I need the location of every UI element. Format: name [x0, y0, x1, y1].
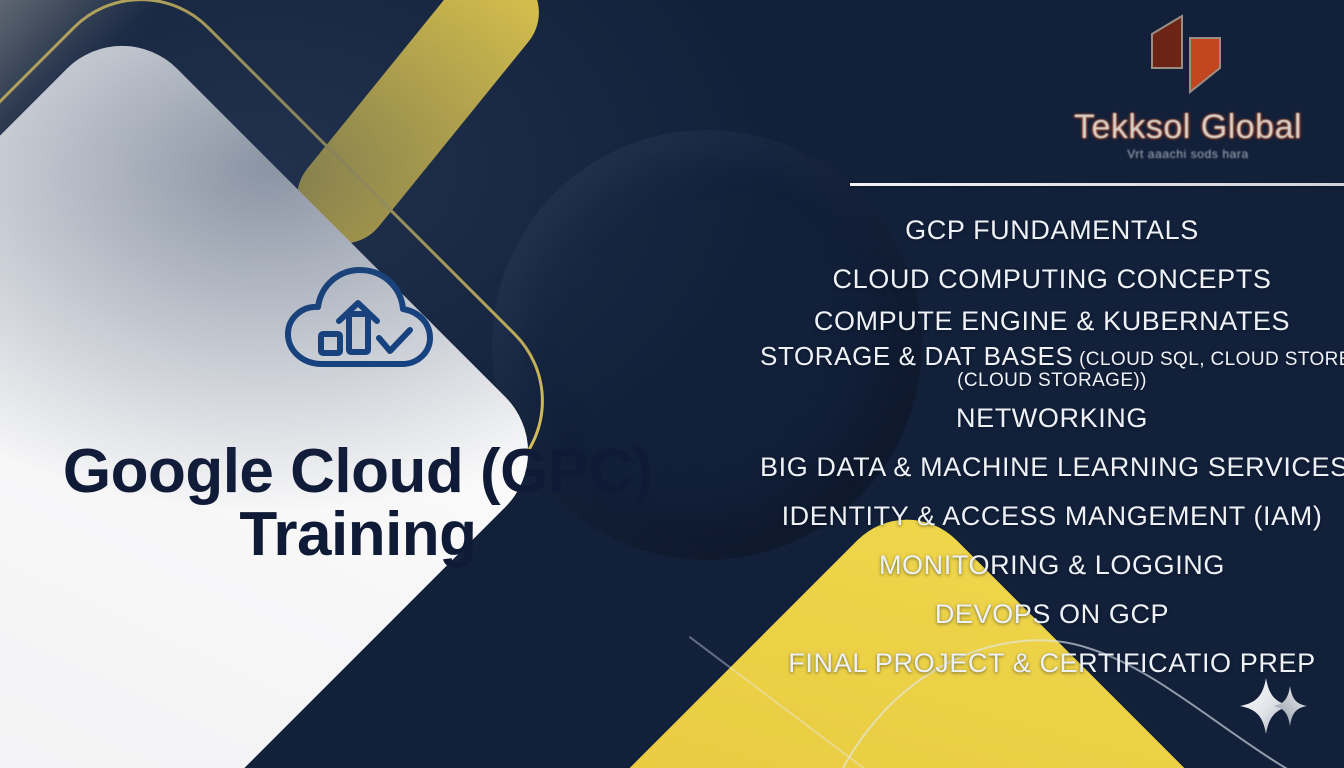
- four-point-sparkle-icon: [1236, 672, 1310, 746]
- page-title-line-2: Training: [18, 503, 698, 566]
- topic-item-storage-databases-label: STORAGE & DAT BASES: [760, 341, 1073, 371]
- brand-tagline: Vrt aaachi sods hara: [1038, 147, 1338, 161]
- page-title-line-1: Google Cloud (GPC): [63, 437, 653, 506]
- topic-item-iam: IDENTITY & ACCESS MANGEMENT (IAM): [760, 501, 1344, 532]
- topic-item-storage-databases: STORAGE & DAT BASES (CLOUD SQL, CLOUD ST…: [760, 341, 1344, 392]
- topics-divider: [850, 183, 1344, 186]
- topic-item-storage-databases-sub2: (CLOUD STORAGE)): [760, 370, 1344, 392]
- hero-card-content: Google Cloud (GPC) Training: [0, 258, 716, 566]
- topic-item-compute-engine-kubernates: COMPUTE ENGINE & KUBERNATES: [760, 306, 1344, 337]
- page-title: Google Cloud (GPC) Training: [0, 440, 716, 566]
- topic-item-gcp-fundamentals: GCP FUNDAMENTALS: [760, 215, 1344, 246]
- topic-item-cloud-computing-concepts: CLOUD COMPUTING CONCEPTS: [760, 264, 1344, 295]
- topic-item-big-data-ml: BIG DATA & MACHINE LEARNING SERVICES: [760, 452, 1344, 483]
- cloud-analytics-check-icon: [276, 258, 440, 378]
- topic-item-devops-on-gcp: DEVOPS ON GCP: [760, 599, 1344, 630]
- topic-item-storage-databases-sub: (CLOUD SQL, CLOUD STORES: [1073, 349, 1344, 370]
- brand-logo[interactable]: Tekksol Global Vrt aaachi sods hara: [1038, 6, 1338, 161]
- brand-name: Tekksol Global: [1038, 108, 1338, 147]
- slide-canvas: Google Cloud (GPC) Training Tekksol Glob…: [0, 0, 1344, 768]
- brand-mark-icon: [1140, 6, 1236, 106]
- topics-list: GCP FUNDAMENTALS CLOUD COMPUTING CONCEPT…: [760, 206, 1344, 688]
- topic-item-networking: NETWORKING: [760, 403, 1344, 434]
- topic-item-monitoring-logging: MONITORING & LOGGING: [760, 550, 1344, 581]
